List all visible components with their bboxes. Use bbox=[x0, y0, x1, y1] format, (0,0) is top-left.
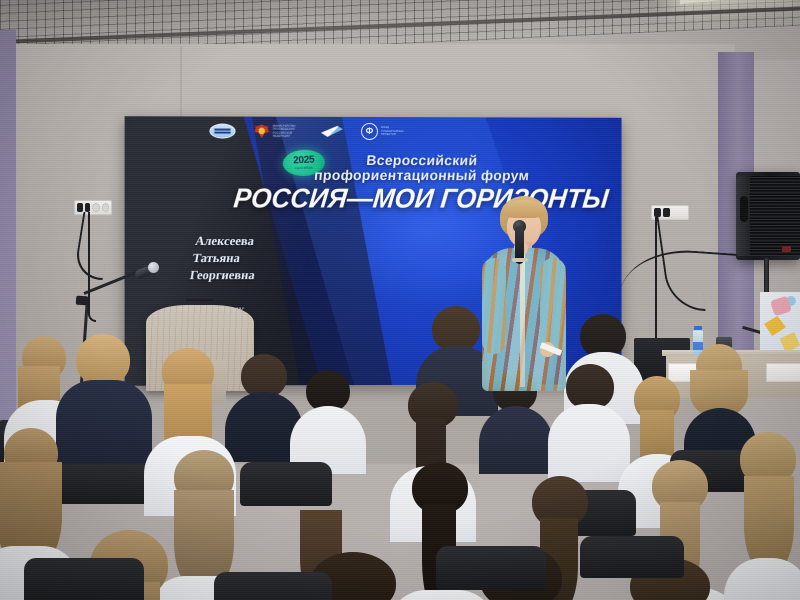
logo-oval-emblem bbox=[209, 124, 235, 139]
conference-chair bbox=[580, 536, 684, 578]
presenter-right-arm bbox=[540, 258, 566, 354]
presenter bbox=[478, 196, 570, 391]
conference-chair bbox=[24, 558, 144, 600]
logo-russian-coat-of-arms: МИНИСТЕРСТВО ПРОСВЕЩЕНИЯ РОССИЙСКОЙ ФЕДЕ… bbox=[254, 124, 303, 138]
pa-speaker-handle bbox=[740, 196, 748, 222]
presenter-hair-fringe bbox=[502, 200, 546, 218]
logo-fond-f: Ф ФОНД ГУМАНИТАРНЫХ ПРОЕКТОВ bbox=[361, 123, 411, 140]
credit-name: Алексеева Татьяна Георгиевна bbox=[186, 233, 225, 301]
conference-chair bbox=[214, 572, 332, 600]
presenter-left-arm bbox=[482, 258, 506, 354]
presenter-bracelet bbox=[512, 258, 528, 262]
pa-speaker-grille bbox=[750, 176, 800, 256]
audience bbox=[0, 300, 800, 600]
photo-scene: МИНИСТЕРСТВО ПРОСВЕЩЕНИЯ РОССИЙСКОЙ ФЕДЕ… bbox=[0, 0, 800, 600]
presenter-dress-buttons bbox=[520, 252, 525, 387]
logo-arrow-flag bbox=[321, 126, 343, 137]
headline-line-2: профориентационный форум bbox=[221, 168, 621, 184]
microphone-windscreen-icon bbox=[148, 262, 159, 273]
pa-speaker-badge bbox=[782, 246, 791, 252]
ceiling-led-panel-light bbox=[680, 0, 800, 4]
logo-f-glyph: Ф bbox=[361, 123, 378, 140]
conference-chair bbox=[436, 546, 546, 590]
slide-logo-strip: МИНИСТЕРСТВО ПРОСВЕЩЕНИЯ РОССИЙСКОЙ ФЕДЕ… bbox=[209, 123, 411, 141]
